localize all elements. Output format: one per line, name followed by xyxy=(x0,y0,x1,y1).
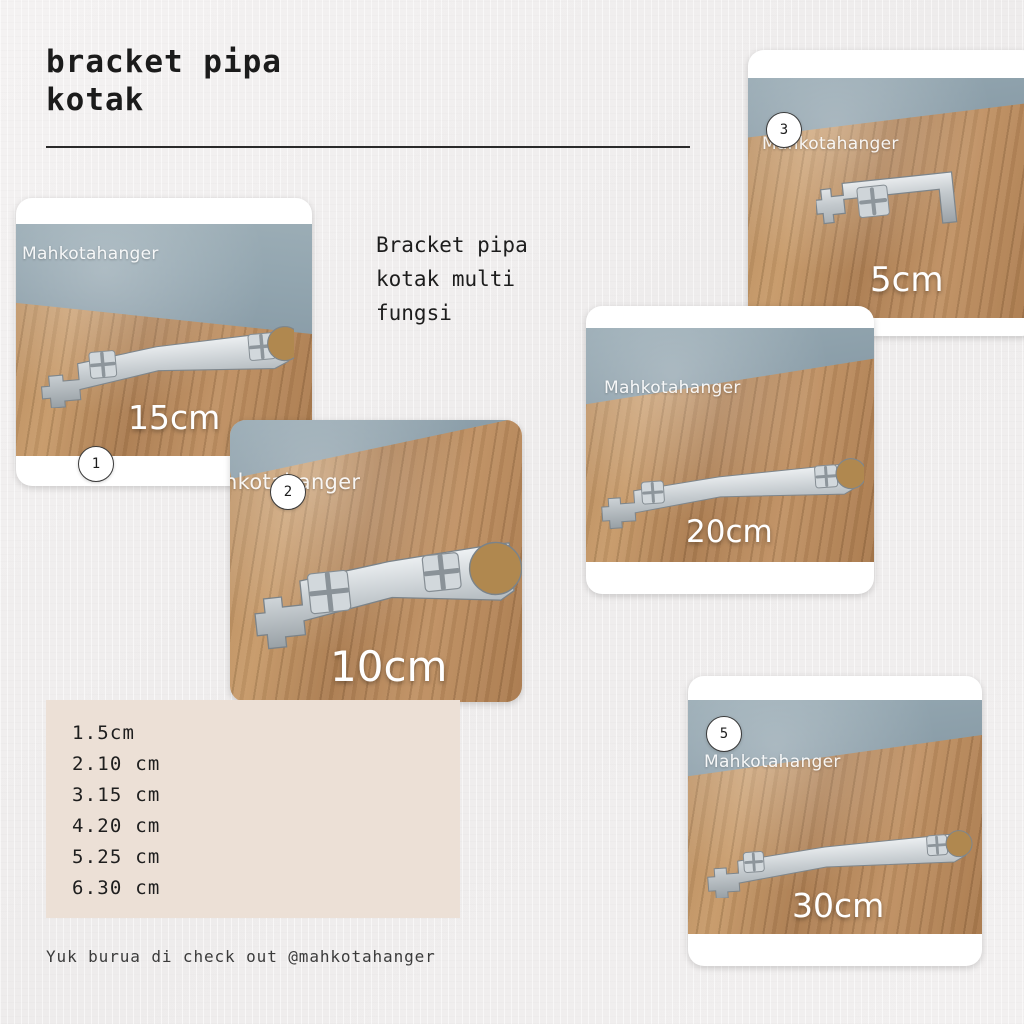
size-list-item-3: 3.15 cm xyxy=(72,784,160,806)
bracket-illustration-2 xyxy=(252,538,522,656)
page-subtitle: Bracket pipa kotak multi fungsi xyxy=(376,228,606,330)
photo-card-2[interactable]: hkotahanger xyxy=(230,420,522,702)
photo-badge-2: 2 xyxy=(270,474,306,510)
page-title: bracket pipa kotak xyxy=(46,44,686,120)
photo-card-4[interactable]: Mahkotahanger xyxy=(586,306,874,594)
watermark-5: Mahkotahanger xyxy=(704,752,841,772)
size-list-item-6: 6.30 cm xyxy=(72,877,160,899)
photo-badge-3: 3 xyxy=(766,112,802,148)
size-list-panel: 1.5cm 2.10 cm 3.15 cm 4.20 cm 5.25 cm 6.… xyxy=(46,700,460,918)
size-list-item-5: 5.25 cm xyxy=(72,846,160,868)
size-label-2: 10cm xyxy=(330,642,447,691)
photo-badge-5: 5 xyxy=(706,716,742,752)
photo-card-5[interactable]: Mahkotahanger xyxy=(688,676,982,966)
size-list-item-4: 4.20 cm xyxy=(72,815,160,837)
photo-image-2: hkotahanger xyxy=(230,420,522,702)
size-list-item-2: 2.10 cm xyxy=(72,753,160,775)
bracket-illustration-1 xyxy=(38,320,294,408)
size-label-1: 15cm xyxy=(128,398,220,437)
size-list-item-1: 1.5cm xyxy=(72,722,135,744)
bracket-illustration-3 xyxy=(816,168,976,268)
photo-card-3[interactable]: Mahkotahanger 5cm 3 xyxy=(748,50,1024,336)
photo-badge-1: 1 xyxy=(78,446,114,482)
footer-cta: Yuk burua di check out @mahkotahanger xyxy=(46,947,436,966)
photo-image-4: Mahkotahanger xyxy=(586,328,874,562)
size-label-4: 20cm xyxy=(686,514,773,550)
size-label-5: 30cm xyxy=(792,886,884,925)
title-divider xyxy=(46,146,690,148)
watermark-4: Mahkotahanger xyxy=(604,378,741,398)
size-label-3: 5cm xyxy=(870,260,943,300)
watermark-1: Mahkotahanger xyxy=(22,244,159,264)
